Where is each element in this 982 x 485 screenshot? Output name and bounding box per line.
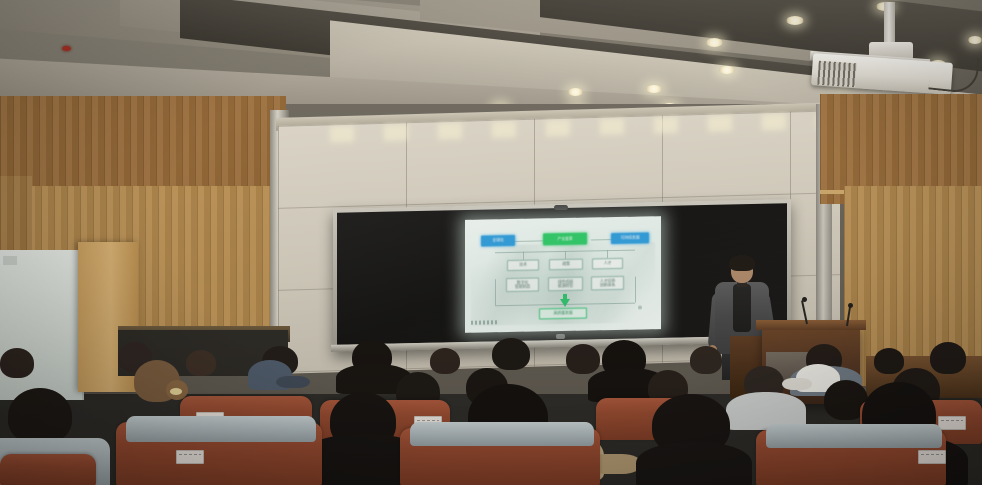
projector-vent-icon — [817, 61, 857, 88]
downlight — [646, 85, 662, 93]
smoke-detector-icon — [62, 46, 71, 51]
audience-head — [930, 342, 966, 374]
slide-box-mid1-2: 政策 — [549, 259, 583, 271]
slide-box-top-3: 可持续发展 — [611, 232, 649, 244]
auditorium-seat[interactable] — [0, 454, 96, 485]
lecture-hall-photo: 全球化 产业变革 可持续发展 技术 政策 人才 数字化 智能制造 绿色低碳 能源… — [0, 0, 982, 485]
seat-cushion — [766, 424, 942, 448]
wood-paneling-left-upper — [0, 96, 286, 200]
display-camera-icon — [554, 205, 568, 210]
slide-connector — [565, 251, 566, 259]
cap-brim — [782, 378, 812, 390]
audience-head — [0, 348, 34, 378]
slide-box-mid2-3: 人才培养 创新体系 — [591, 276, 624, 291]
down-arrow-icon — [560, 299, 570, 307]
audience-head — [874, 348, 904, 374]
slide-footer-logo — [471, 320, 497, 324]
slide-box-mid2-2: 绿色低碳 能源转型 — [548, 277, 583, 292]
seat-cushion — [410, 422, 594, 446]
audience-head — [492, 338, 530, 370]
slide-box-top-1: 全球化 — [481, 235, 515, 247]
downlight — [786, 16, 804, 25]
audience-shoulders — [636, 442, 752, 485]
audience-head — [430, 348, 460, 374]
seat-number-plate — [176, 450, 204, 464]
seat-number-plate — [938, 416, 966, 430]
slide-connector — [523, 252, 524, 260]
downlight — [568, 88, 583, 96]
audience-head — [566, 344, 600, 374]
slide-box-mid2-1: 数字化 智能制造 — [506, 277, 539, 292]
seated-audience — [0, 338, 982, 485]
presenter-hair — [729, 255, 755, 271]
whiteboard-label — [3, 256, 17, 265]
downlight — [719, 66, 735, 74]
lectern-top-surface — [756, 320, 866, 330]
downlight — [968, 36, 982, 44]
presenter-inner-shirt — [733, 284, 751, 332]
slide-box-mid1-1: 技术 — [507, 259, 539, 271]
slide-box-mid1-3: 人才 — [592, 258, 623, 270]
slide-box-top-2: 产业变革 — [543, 233, 587, 246]
audience-head — [8, 388, 72, 444]
seat-number-plate — [918, 450, 946, 464]
seat-cushion — [126, 416, 316, 442]
slide-connector — [635, 277, 636, 303]
microphone-icon — [848, 303, 853, 308]
slide-connector — [607, 250, 608, 258]
slide-connector — [495, 279, 496, 305]
cap-brim — [276, 376, 310, 388]
microphone-icon — [802, 297, 807, 302]
projector-pole — [884, 2, 895, 46]
downlight — [706, 38, 723, 47]
projector-cable — [928, 54, 980, 95]
projected-slide: 全球化 产业变革 可持续发展 技术 政策 人才 数字化 智能制造 绿色低碳 能源… — [465, 216, 661, 333]
audience-head — [690, 346, 722, 374]
hair-scrunchie — [170, 388, 182, 395]
slide-box-conclusion: 高质量发展 — [539, 308, 587, 320]
audience-head — [186, 350, 216, 376]
